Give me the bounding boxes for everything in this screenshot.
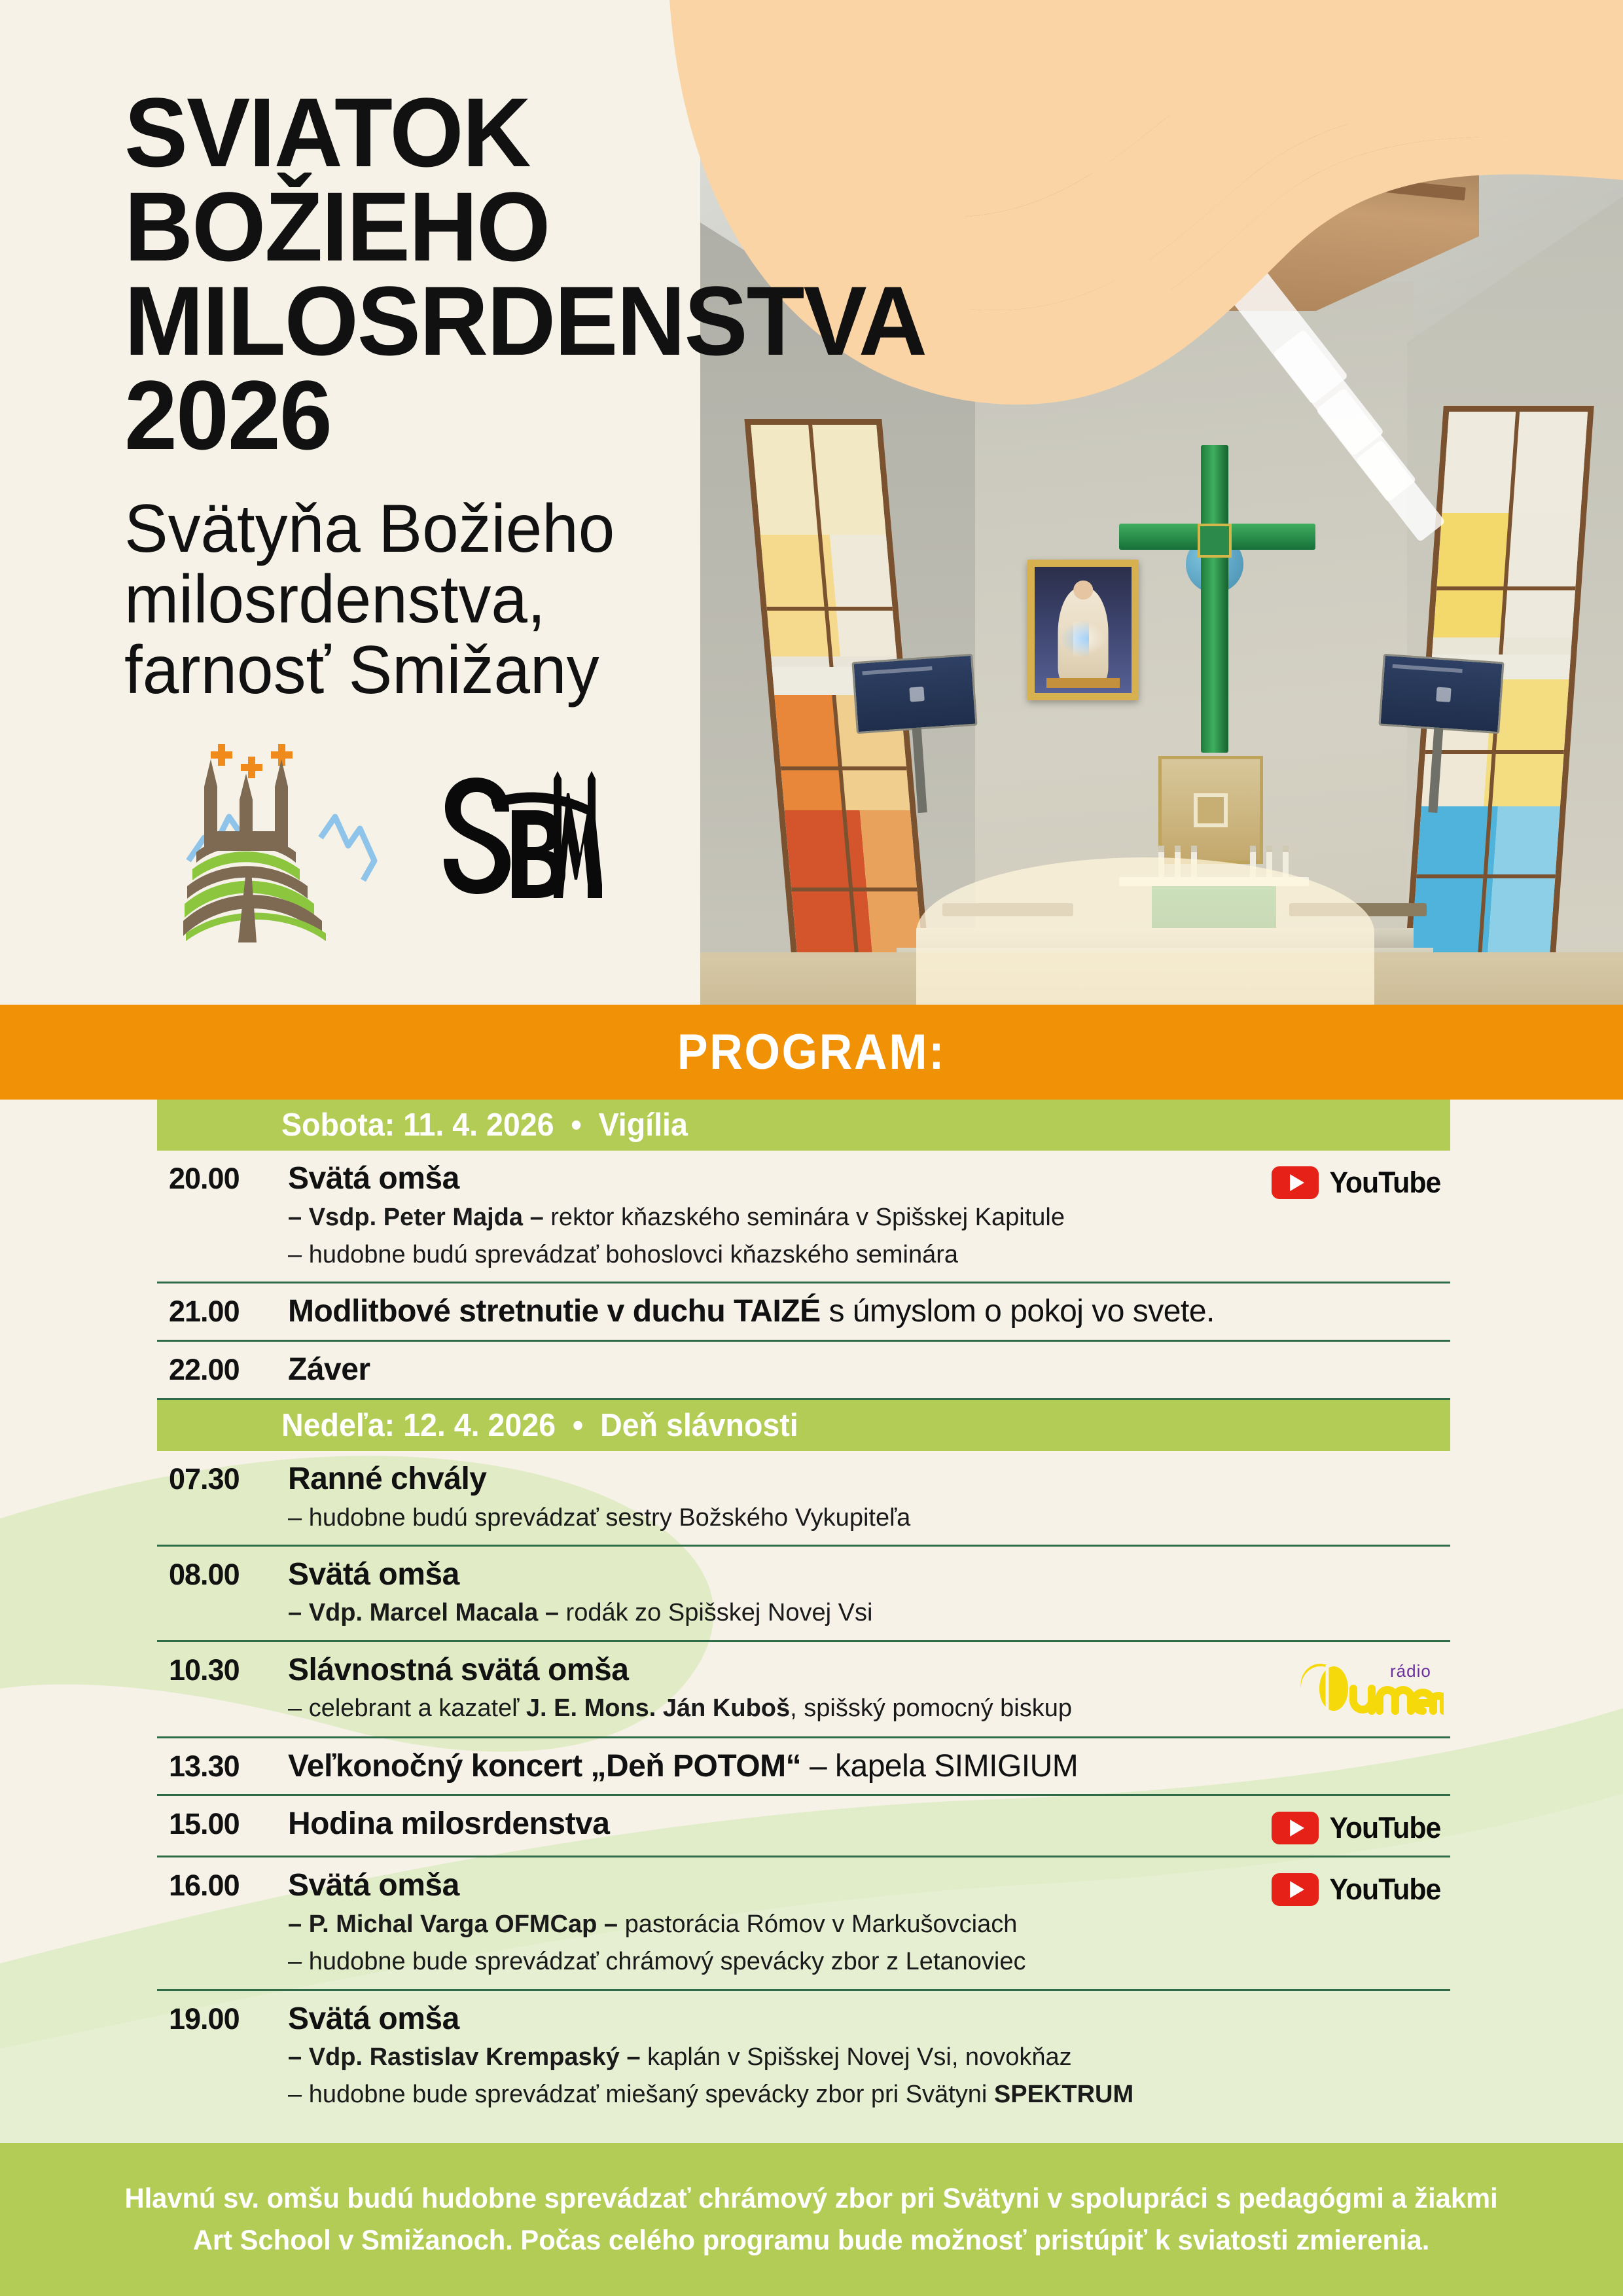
- radio-lumen-logo[interactable]: rádio: [1293, 1657, 1444, 1726]
- day-heading-1: Sobota: 11. 4. 2026 • Vigília: [157, 1100, 1450, 1151]
- program-row-main: Hodina milosrdenstva: [288, 1807, 1274, 1842]
- program-row-title-suffix: – kapela SIMIGIUM: [801, 1749, 1078, 1784]
- page-title: SVIATOK BOŽIEHO MILOSRDENSTVA 2026: [124, 85, 766, 462]
- tabernacle: [1158, 756, 1263, 864]
- youtube-wordmark: YouTube: [1330, 1873, 1441, 1907]
- program-row-time: 19.00: [157, 2002, 288, 2036]
- program-row-time: 10.30: [157, 1653, 288, 1687]
- day-heading-label: Nedeľa: 12. 4. 2026 • Deň slávnosti: [157, 1407, 798, 1444]
- program-row: 07.30Ranné chvály– hudobne budú sprevádz…: [157, 1451, 1450, 1547]
- program-row-title: Svätá omša: [288, 1558, 1260, 1592]
- program-row-main: Modlitbové stretnutie v duchu TAIZÉ s úm…: [288, 1295, 1274, 1329]
- program-row: 10.30Slávnostná svätá omša– celebrant a …: [157, 1642, 1450, 1738]
- sbm-logo-icon: [432, 759, 602, 923]
- program-rows: Sobota: 11. 4. 2026 • Vigília20.00Svätá …: [0, 1100, 1623, 2122]
- program-row-detail: – hudobne budú sprevádzať bohoslovci kňa…: [288, 1238, 1260, 1271]
- program-row-badge: YouTube: [1274, 1869, 1450, 1907]
- program-row-title: Hodina milosrdenstva: [288, 1807, 1260, 1842]
- youtube-badge[interactable]: YouTube: [1272, 1811, 1444, 1845]
- program-row-title-suffix: s úmyslom o pokoj vo svete.: [821, 1294, 1215, 1329]
- program-row-badge: rádio: [1274, 1653, 1450, 1726]
- program-row: 19.00Svätá omša– Vdp. Rastislav Krempask…: [157, 1991, 1450, 2122]
- logo-row: [183, 740, 602, 942]
- program-row-title: Modlitbové stretnutie v duchu TAIZÉ s úm…: [288, 1295, 1260, 1329]
- program-row-badge: YouTube: [1274, 1807, 1450, 1845]
- program-row-detail: – Vsdp. Peter Majda – rektor kňazského s…: [288, 1201, 1260, 1234]
- cross-center-node: [1198, 524, 1232, 558]
- divine-mercy-painting: [1027, 560, 1139, 700]
- program-row-detail: – P. Michal Varga OFMCap – pastorácia Ró…: [288, 1908, 1260, 1941]
- program-row-badge: YouTube: [1274, 1162, 1450, 1200]
- program-row-main: Svätá omša– Vsdp. Peter Majda – rektor k…: [288, 1162, 1274, 1271]
- program-row-detail: – hudobne bude sprevádzať miešaný spevác…: [288, 2078, 1260, 2111]
- program-row-main: Slávnostná svätá omša– celebrant a kazat…: [288, 1653, 1274, 1725]
- program-row-main: Svätá omša– Vdp. Marcel Macala – rodák z…: [288, 1558, 1274, 1630]
- program-row: 13.30Veľkonočný koncert „Deň POTOM“ – ka…: [157, 1738, 1450, 1797]
- program-row-badge: [1274, 1462, 1450, 1466]
- youtube-wordmark: YouTube: [1330, 1811, 1441, 1845]
- svg-text:rádio: rádio: [1390, 1661, 1431, 1681]
- program-row-time: 21.00: [157, 1295, 288, 1329]
- program-row-badge: [1274, 1558, 1450, 1562]
- program-row: 22.00Záver: [157, 1342, 1450, 1400]
- program-row-title: Svätá omša: [288, 1869, 1260, 1903]
- day-heading-label: Sobota: 11. 4. 2026 • Vigília: [157, 1107, 688, 1143]
- program-row: 20.00Svätá omša– Vsdp. Peter Majda – rek…: [157, 1151, 1450, 1283]
- program-row-main: Svätá omša– P. Michal Varga OFMCap – pas…: [288, 1869, 1274, 1978]
- program-row-detail: – Vdp. Marcel Macala – rodák zo Spišskej…: [288, 1596, 1260, 1629]
- poster-root: SVIATOK BOŽIEHO MILOSRDENSTVA 2026 Sväty…: [0, 0, 1623, 2296]
- program-row-title: Slávnostná svätá omša: [288, 1653, 1260, 1688]
- program-row-badge: [1274, 2002, 1450, 2006]
- program-row-detail: – celebrant a kazateľ J. E. Mons. Ján Ku…: [288, 1692, 1260, 1725]
- program-bar-label: PROGRAM:: [677, 1024, 946, 1081]
- program-row-title: Záver: [288, 1353, 1260, 1388]
- day-heading-2: Nedeľa: 12. 4. 2026 • Deň slávnosti: [157, 1400, 1450, 1451]
- youtube-wordmark: YouTube: [1330, 1166, 1441, 1200]
- projection-screen-left: [851, 654, 977, 734]
- program-row-time: 08.00: [157, 1558, 288, 1592]
- program-row: 16.00Svätá omša– P. Michal Varga OFMCap …: [157, 1857, 1450, 1990]
- youtube-play-icon: [1272, 1812, 1319, 1844]
- youtube-play-icon: [1272, 1873, 1319, 1906]
- church-interior-photo: [700, 0, 1623, 1005]
- program-row-main: Svätá omša– Vdp. Rastislav Krempaský – k…: [288, 2002, 1274, 2111]
- program-row-time: 15.00: [157, 1807, 288, 1841]
- program-row-title: Veľkonočný koncert „Deň POTOM“ – kapela …: [288, 1749, 1260, 1784]
- program-row: 08.00Svätá omša– Vdp. Marcel Macala – ro…: [157, 1547, 1450, 1642]
- program-body: Sobota: 11. 4. 2026 • Vigília20.00Svätá …: [0, 1100, 1623, 2143]
- program-bar: PROGRAM:: [0, 1005, 1623, 1100]
- program-row-detail: – Vdp. Rastislav Krempaský – kaplán v Sp…: [288, 2041, 1260, 2073]
- program-row-main: Veľkonočný koncert „Deň POTOM“ – kapela …: [288, 1749, 1274, 1784]
- youtube-play-icon: [1272, 1166, 1319, 1199]
- youtube-badge[interactable]: YouTube: [1272, 1873, 1444, 1907]
- program-row: 15.00Hodina milosrdenstvaYouTube: [157, 1796, 1450, 1857]
- program-row-title: Ranné chvály: [288, 1462, 1260, 1497]
- page-subtitle: Svätyňa Božieho milosrdenstva, farnosť S…: [124, 493, 759, 706]
- program-row-badge: [1274, 1295, 1450, 1299]
- program-row-badge: [1274, 1353, 1450, 1357]
- footer-text: Hlavnú sv. omšu budú hudobne sprevádzať …: [43, 2178, 1580, 2262]
- youtube-badge[interactable]: YouTube: [1272, 1166, 1444, 1200]
- program-row-title: Svätá omša: [288, 1162, 1260, 1196]
- program-row-title: Svätá omša: [288, 2002, 1260, 2037]
- program-row-time: 07.30: [157, 1462, 288, 1496]
- program-row-detail: – hudobne bude sprevádzať chrámový spevá…: [288, 1945, 1260, 1978]
- program-row-time: 22.00: [157, 1353, 288, 1387]
- program-row-main: Záver: [288, 1353, 1274, 1388]
- projection-screen-right: [1378, 654, 1504, 734]
- footer-note: Hlavnú sv. omšu budú hudobne sprevádzať …: [0, 2143, 1623, 2296]
- green-cross-vertical: [1201, 445, 1228, 753]
- parish-crest-icon: [183, 740, 380, 942]
- title-block: SVIATOK BOŽIEHO MILOSRDENSTVA 2026 Sväty…: [124, 85, 785, 706]
- program-row-detail: – hudobne budú sprevádzať sestry Božskéh…: [288, 1501, 1260, 1534]
- program-row-time: 13.30: [157, 1749, 288, 1784]
- program-row: 21.00Modlitbové stretnutie v duchu TAIZÉ…: [157, 1283, 1450, 1342]
- program-row-time: 16.00: [157, 1869, 288, 1903]
- program-row-badge: [1274, 1749, 1450, 1753]
- program-row-time: 20.00: [157, 1162, 288, 1196]
- program-row-main: Ranné chvály– hudobne budú sprevádzať se…: [288, 1462, 1274, 1534]
- hero-section: SVIATOK BOŽIEHO MILOSRDENSTVA 2026 Sväty…: [0, 0, 1623, 1005]
